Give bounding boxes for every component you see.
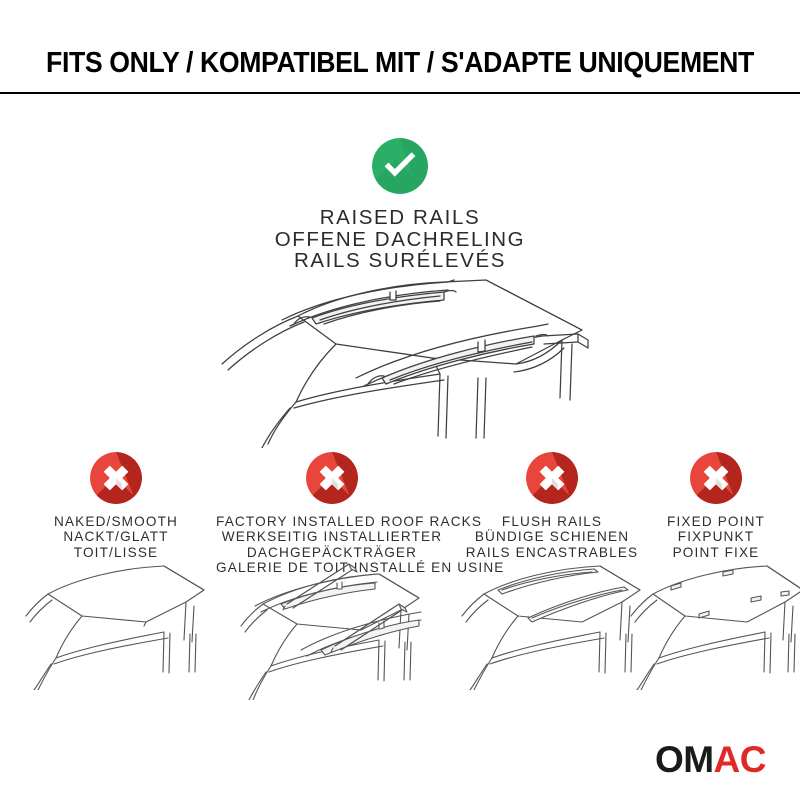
header-divider — [0, 92, 800, 94]
compatible-badge-wrap — [0, 138, 800, 194]
compatible-label-en: RAISED RAILS — [0, 207, 800, 229]
label-line: FACTORY INSTALLED ROOF RACKS — [216, 514, 448, 529]
car-roof-naked-smooth-illustration — [18, 560, 214, 690]
cross-circle-icon — [90, 452, 142, 504]
logo-text-om: OM — [655, 739, 714, 780]
cross-circle-icon — [306, 452, 358, 504]
incompatible-item-flush-rails: FLUSH RAILS BÜNDIGE SCHIENEN RAILS ENCAS… — [452, 452, 652, 560]
compatible-label-de: OFFENE DACHRELING — [0, 229, 800, 251]
compatible-section: RAISED RAILS OFFENE DACHRELING RAILS SUR… — [0, 138, 800, 272]
label-line: FLUSH RAILS — [452, 514, 652, 529]
labels-fixed-point: FIXED POINT FIXPUNKT POINT FIXE — [646, 514, 786, 560]
incompatible-item-factory-rack: FACTORY INSTALLED ROOF RACKS WERKSEITIG … — [216, 452, 448, 576]
label-line: RAILS ENCASTRABLES — [452, 545, 652, 560]
label-line: FIXED POINT — [646, 514, 786, 529]
label-line: DACHGEPÄCKTRÄGER — [216, 545, 448, 560]
compatible-labels: RAISED RAILS OFFENE DACHRELING RAILS SUR… — [0, 207, 800, 272]
header: FITS ONLY / KOMPATIBEL MIT / S'ADAPTE UN… — [0, 46, 800, 98]
incompatible-item-fixed-point: FIXED POINT FIXPUNKT POINT FIXE — [646, 452, 786, 560]
car-roof-factory-rack-illustration — [227, 560, 437, 700]
incompatible-section: NAKED/SMOOTH NACKT/GLATT TOIT/LISSE — [0, 452, 800, 692]
label-line: WERKSEITIG INSTALLIERTER — [216, 529, 448, 544]
label-line: NACKT/GLATT — [16, 529, 216, 544]
label-line: NAKED/SMOOTH — [16, 514, 216, 529]
logo-text-ac: AC — [714, 739, 766, 780]
label-line: TOIT/LISSE — [16, 545, 216, 560]
label-line: BÜNDIGE SCHIENEN — [452, 529, 652, 544]
car-roof-fixed-point-illustration — [623, 560, 800, 690]
cross-circle-icon — [690, 452, 742, 504]
labels-naked-smooth: NAKED/SMOOTH NACKT/GLATT TOIT/LISSE — [16, 514, 216, 560]
label-line: FIXPUNKT — [646, 529, 786, 544]
car-roof-raised-rails-illustration — [186, 278, 616, 448]
omac-logo: OMAC — [655, 741, 766, 778]
cross-circle-icon — [526, 452, 578, 504]
fitment-infographic: FITS ONLY / KOMPATIBEL MIT / S'ADAPTE UN… — [0, 0, 800, 800]
page-title: FITS ONLY / KOMPATIBEL MIT / S'ADAPTE UN… — [26, 46, 774, 80]
check-circle-icon — [372, 138, 428, 194]
compatible-label-fr: RAILS SURÉLEVÉS — [0, 250, 800, 272]
labels-flush-rails: FLUSH RAILS BÜNDIGE SCHIENEN RAILS ENCAS… — [452, 514, 652, 560]
car-roof-flush-rails-illustration — [454, 560, 650, 690]
label-line: POINT FIXE — [646, 545, 786, 560]
incompatible-item-naked-smooth: NAKED/SMOOTH NACKT/GLATT TOIT/LISSE — [16, 452, 216, 560]
